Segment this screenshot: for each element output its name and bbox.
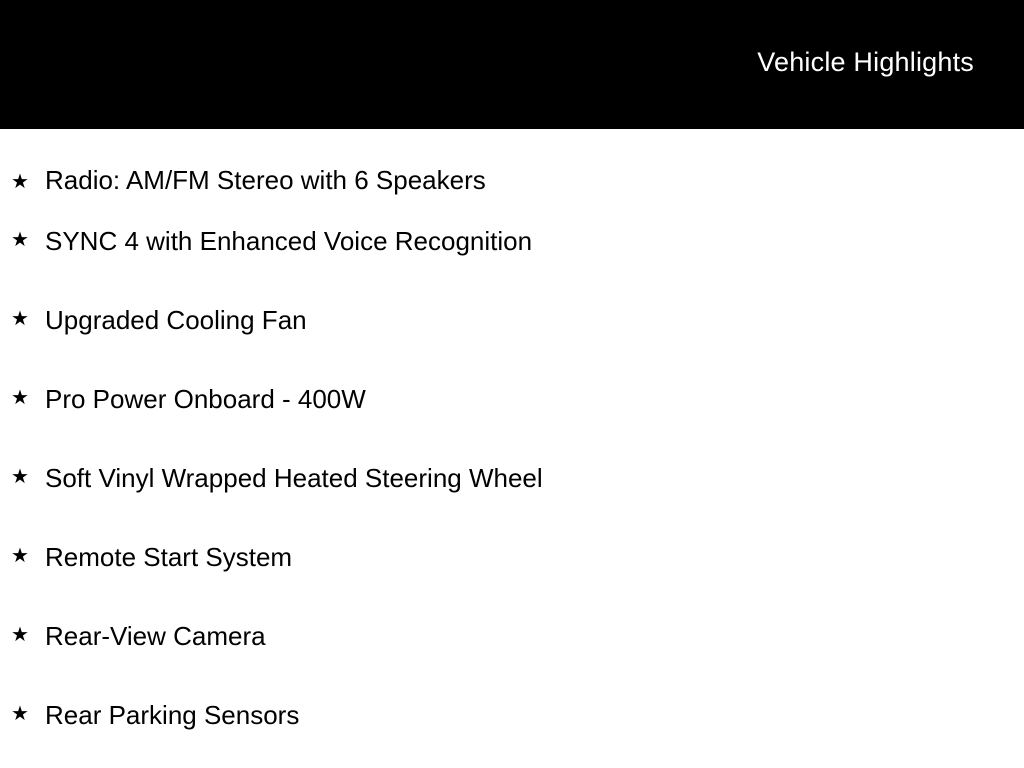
star-icon: ★	[11, 172, 45, 192]
highlight-label: Upgraded Cooling Fan	[45, 307, 307, 333]
list-item: ★ Rear Parking Sensors	[0, 675, 1024, 754]
star-icon: ★	[11, 625, 45, 645]
header-banner: Vehicle Highlights	[0, 0, 1024, 129]
list-item: ★ Rear-View Camera	[0, 596, 1024, 675]
star-icon: ★	[11, 388, 45, 408]
list-item: ★ Pro Power Onboard - 400W	[0, 359, 1024, 438]
highlight-label: Rear-View Camera	[45, 623, 266, 649]
page-title: Vehicle Highlights	[757, 49, 974, 76]
highlight-label: Pro Power Onboard - 400W	[45, 386, 366, 412]
highlight-label: Radio: AM/FM Stereo with 6 Speakers	[45, 167, 486, 193]
list-item: ★ Soft Vinyl Wrapped Heated Steering Whe…	[0, 438, 1024, 517]
star-icon: ★	[11, 309, 45, 329]
star-icon: ★	[11, 704, 45, 724]
list-item: ★ Upgraded Cooling Fan	[0, 280, 1024, 359]
vehicle-highlights-page: Vehicle Highlights ★ Radio: AM/FM Stereo…	[0, 0, 1024, 768]
star-icon: ★	[11, 546, 45, 566]
highlight-label: SYNC 4 with Enhanced Voice Recognition	[45, 228, 532, 254]
highlight-label: Rear Parking Sensors	[45, 702, 299, 728]
list-item: ★ SYNC 4 with Enhanced Voice Recognition	[0, 201, 1024, 280]
list-item: ★ Remote Start System	[0, 517, 1024, 596]
list-item: ★ Radio: AM/FM Stereo with 6 Speakers	[0, 129, 1024, 201]
star-icon: ★	[11, 467, 45, 487]
highlight-label: Remote Start System	[45, 544, 292, 570]
highlight-label: Soft Vinyl Wrapped Heated Steering Wheel	[45, 465, 543, 491]
star-icon: ★	[11, 230, 45, 250]
vehicle-highlights-list: ★ Radio: AM/FM Stereo with 6 Speakers ★ …	[0, 129, 1024, 754]
